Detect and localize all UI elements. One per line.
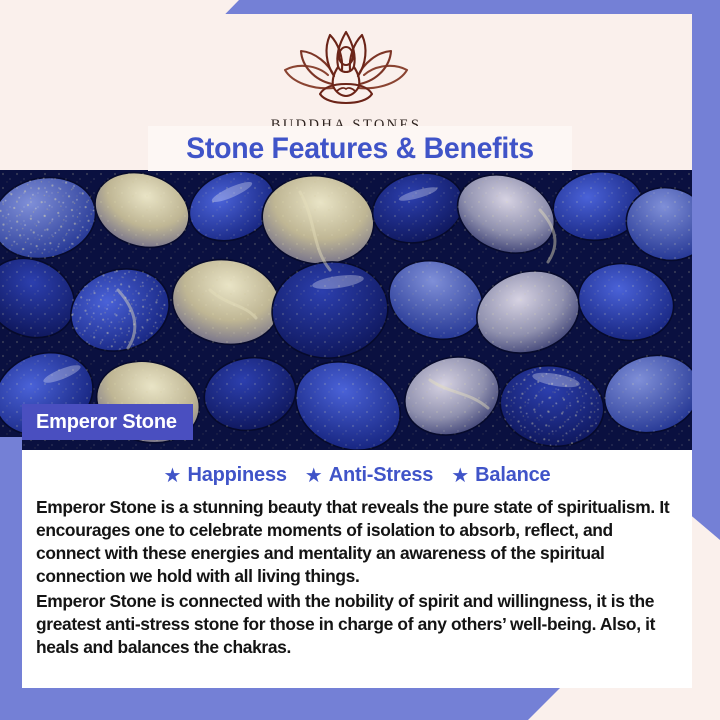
decorative-right-bar	[692, 0, 720, 470]
benefits-row: ★ Happiness ★ Anti-Stress ★ Balance	[36, 464, 678, 487]
benefit-item-balance: ★ Balance	[451, 464, 550, 487]
description-paragraph-1: Emperor Stone is a stunning beauty that …	[36, 496, 678, 589]
benefit-item-happiness: ★ Happiness	[164, 464, 287, 487]
benefit-label: Balance	[475, 464, 550, 487]
star-icon: ★	[305, 466, 323, 486]
star-icon: ★	[164, 466, 182, 486]
stone-name-banner: Emperor Stone	[22, 404, 193, 440]
benefit-label: Happiness	[187, 464, 286, 487]
stone-infographic-card: BUDDHA STONES Stone Features & Benefits	[0, 0, 720, 720]
benefit-item-anti-stress: ★ Anti-Stress	[305, 464, 433, 487]
stone-name: Emperor Stone	[36, 411, 177, 434]
decorative-right-lower-bar	[692, 455, 720, 540]
title-banner: Stone Features & Benefits	[148, 126, 572, 171]
decorative-left-bar	[0, 437, 22, 695]
page-title: Stone Features & Benefits	[186, 132, 534, 166]
star-icon: ★	[451, 466, 469, 486]
description-paragraph-2: Emperor Stone is connected with the nobi…	[36, 590, 678, 659]
stone-description-panel: ★ Happiness ★ Anti-Stress ★ Balance Empe…	[22, 450, 692, 688]
benefit-label: Anti-Stress	[329, 464, 434, 487]
lotus-meditation-icon	[276, 26, 416, 115]
decorative-bottom-bar	[0, 688, 560, 720]
